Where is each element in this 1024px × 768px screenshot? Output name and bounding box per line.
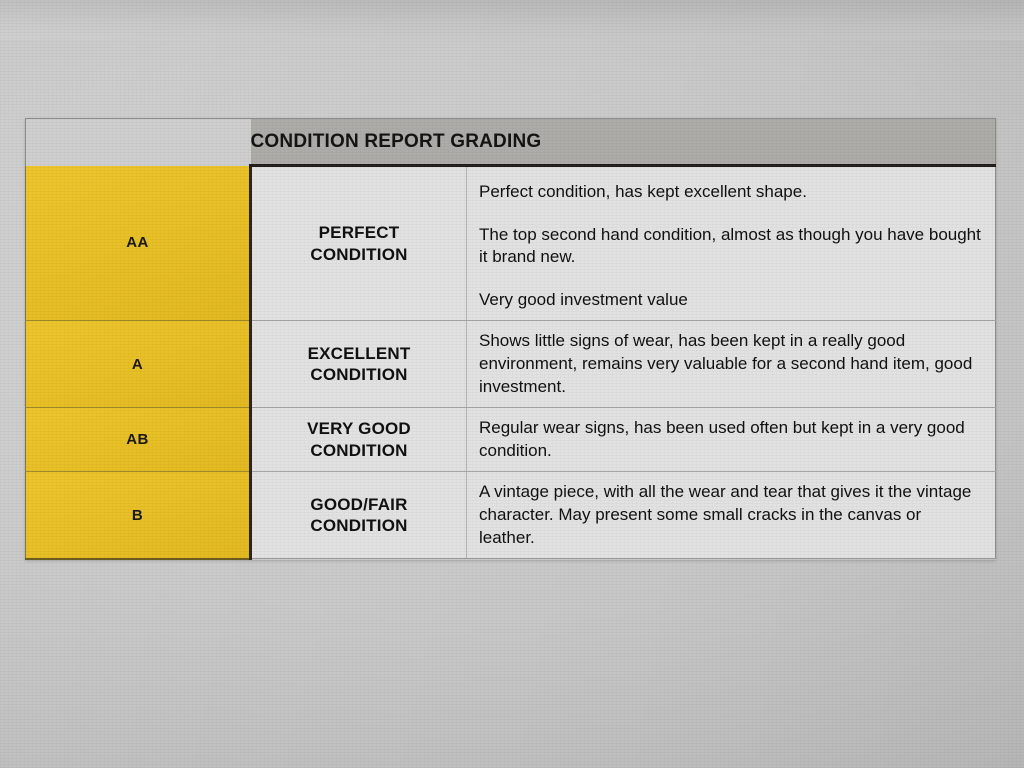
table-row: B GOOD/FAIR CONDITION A vintage piece, w… bbox=[26, 472, 996, 559]
grade-cell-aa: AA bbox=[26, 166, 251, 321]
condition-label-b: GOOD/FAIR CONDITION bbox=[251, 472, 467, 559]
grade-cell-ab: AB bbox=[26, 408, 251, 472]
condition-label-line1: PERFECT bbox=[319, 223, 400, 242]
description-cell-aa: Perfect condition, has kept excellent sh… bbox=[467, 166, 996, 321]
grade-cell-b: B bbox=[26, 472, 251, 559]
table-header-row: CONDITION REPORT GRADING bbox=[26, 119, 996, 166]
condition-label-line1: GOOD/FAIR bbox=[310, 495, 407, 514]
condition-label-line2: CONDITION bbox=[310, 441, 407, 460]
header-blank-cell bbox=[26, 119, 251, 166]
condition-label-line1: EXCELLENT bbox=[308, 344, 411, 363]
description-paragraph: Shows little signs of wear, has been kep… bbox=[479, 330, 981, 398]
condition-label-a: EXCELLENT CONDITION bbox=[251, 321, 467, 408]
description-paragraph: A vintage piece, with all the wear and t… bbox=[479, 481, 981, 549]
condition-label-aa: PERFECT CONDITION bbox=[251, 166, 467, 321]
description-paragraph: Perfect condition, has kept excellent sh… bbox=[479, 181, 981, 204]
description-cell-a: Shows little signs of wear, has been kep… bbox=[467, 321, 996, 408]
condition-report-grading-table: CONDITION REPORT GRADING AA PERFECT COND… bbox=[25, 118, 996, 560]
paper-top-edge bbox=[0, 0, 1024, 40]
table-row: AA PERFECT CONDITION Perfect condition, … bbox=[26, 166, 996, 321]
description-cell-b: A vintage piece, with all the wear and t… bbox=[467, 472, 996, 559]
condition-label-line2: CONDITION bbox=[310, 516, 407, 535]
table-row: AB VERY GOOD CONDITION Regular wear sign… bbox=[26, 408, 996, 472]
table-title: CONDITION REPORT GRADING bbox=[251, 119, 996, 166]
description-paragraph: Very good investment value bbox=[479, 289, 981, 312]
condition-label-ab: VERY GOOD CONDITION bbox=[251, 408, 467, 472]
description-cell-ab: Regular wear signs, has been used often … bbox=[467, 408, 996, 472]
grade-cell-a: A bbox=[26, 321, 251, 408]
description-paragraph: Regular wear signs, has been used often … bbox=[479, 417, 981, 462]
condition-label-line1: VERY GOOD bbox=[307, 419, 411, 438]
condition-label-line2: CONDITION bbox=[310, 245, 407, 264]
condition-label-line2: CONDITION bbox=[310, 365, 407, 384]
description-paragraph: The top second hand condition, almost as… bbox=[479, 224, 981, 269]
table-row: A EXCELLENT CONDITION Shows little signs… bbox=[26, 321, 996, 408]
